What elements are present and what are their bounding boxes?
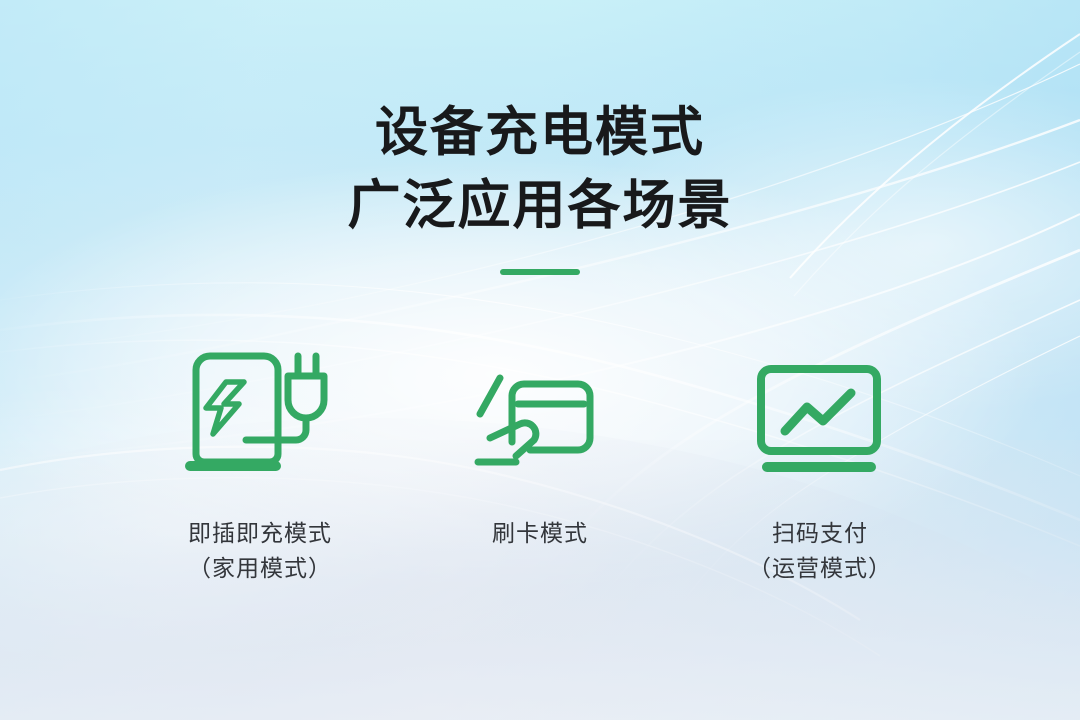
mode-label: 即插即充模式 （家用模式） xyxy=(188,516,332,586)
charging-station-plug-icon xyxy=(178,348,343,478)
card-swipe-hand-icon xyxy=(470,358,610,478)
headline-line-2: 广泛应用各场景 xyxy=(0,169,1080,242)
headline-line-1: 设备充电模式 xyxy=(0,96,1080,169)
mode-label: 扫码支付 （运营模式） xyxy=(748,516,892,586)
laptop-chart-icon xyxy=(753,363,888,478)
mode-label-line-1: 刷卡模式 xyxy=(492,520,588,546)
mode-label-line-1: 扫码支付 xyxy=(772,520,868,546)
mode-label-line-2: （家用模式） xyxy=(188,551,332,586)
mode-icon-wrap xyxy=(753,348,888,478)
charging-modes-row: 即插即充模式 （家用模式） xyxy=(150,348,930,586)
mode-item-card-swipe: 刷卡模式 xyxy=(430,348,650,551)
page-title: 设备充电模式 广泛应用各场景 xyxy=(0,96,1080,242)
mode-label: 刷卡模式 xyxy=(492,516,588,551)
mode-label-line-1: 即插即充模式 xyxy=(188,520,332,546)
poster-canvas: 设备充电模式 广泛应用各场景 xyxy=(0,0,1080,720)
mode-item-scan-to-pay: 扫码支付 （运营模式） xyxy=(710,348,930,586)
mode-icon-wrap xyxy=(470,348,610,478)
title-divider-wrap xyxy=(0,262,1080,280)
title-divider xyxy=(500,269,580,275)
mode-label-line-2: （运营模式） xyxy=(748,551,892,586)
mode-item-plug-and-charge: 即插即充模式 （家用模式） xyxy=(150,348,370,586)
mode-icon-wrap xyxy=(178,348,343,478)
